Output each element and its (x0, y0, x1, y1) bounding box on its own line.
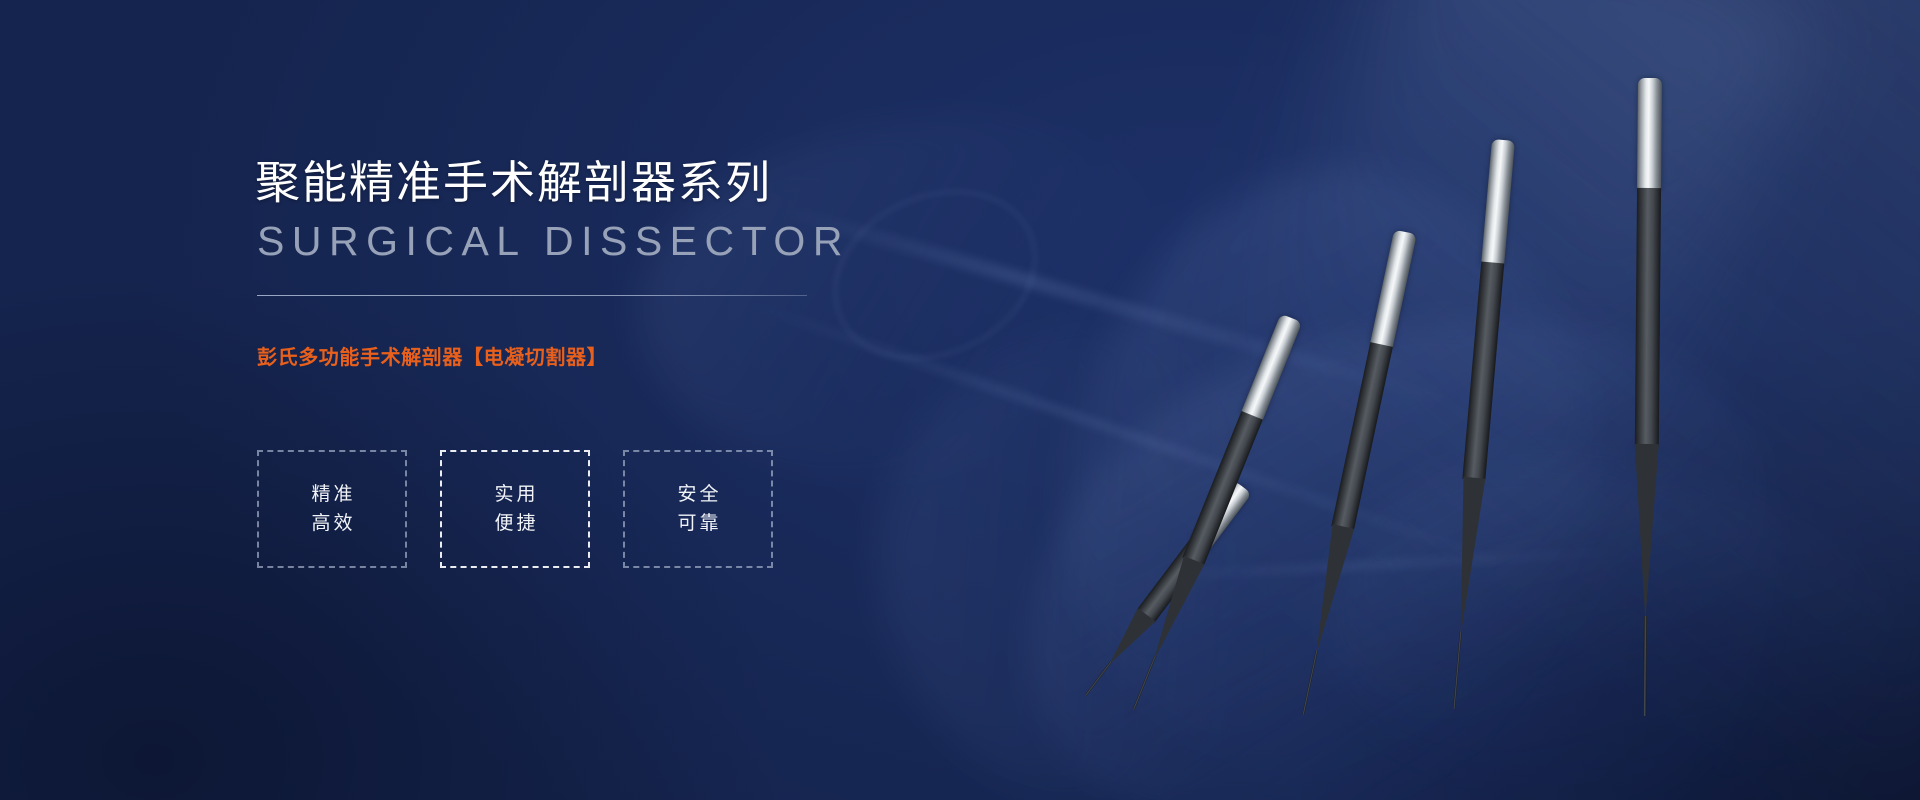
feature-badge-3[interactable]: 安全 可靠 (623, 450, 773, 568)
page-subtitle-english: SURGICAL DISSECTOR (257, 218, 850, 265)
feature-badge-1-line2: 高效 (308, 514, 355, 533)
feature-badge-2-line2: 便捷 (491, 514, 538, 533)
feature-badge-3-line1: 安全 (674, 485, 721, 504)
feature-badge-group: 精准 高效 实用 便捷 安全 可靠 (257, 450, 773, 568)
feature-badge-2[interactable]: 实用 便捷 (440, 450, 590, 568)
banner-content: 聚能精准手术解剖器系列 SURGICAL DISSECTOR 彭氏多功能手术解剖… (255, 0, 895, 800)
title-divider (257, 295, 807, 296)
feature-badge-3-line2: 可靠 (674, 514, 721, 533)
product-name-highlight: 彭氏多功能手术解剖器【电凝切割器】 (257, 341, 607, 370)
hero-banner: 聚能精准手术解剖器系列 SURGICAL DISSECTOR 彭氏多功能手术解剖… (0, 0, 1920, 800)
page-title: 聚能精准手术解剖器系列 (255, 146, 772, 211)
feature-badge-1[interactable]: 精准 高效 (257, 450, 407, 568)
feature-badge-2-line1: 实用 (491, 485, 538, 504)
feature-badge-1-line1: 精准 (308, 485, 355, 504)
